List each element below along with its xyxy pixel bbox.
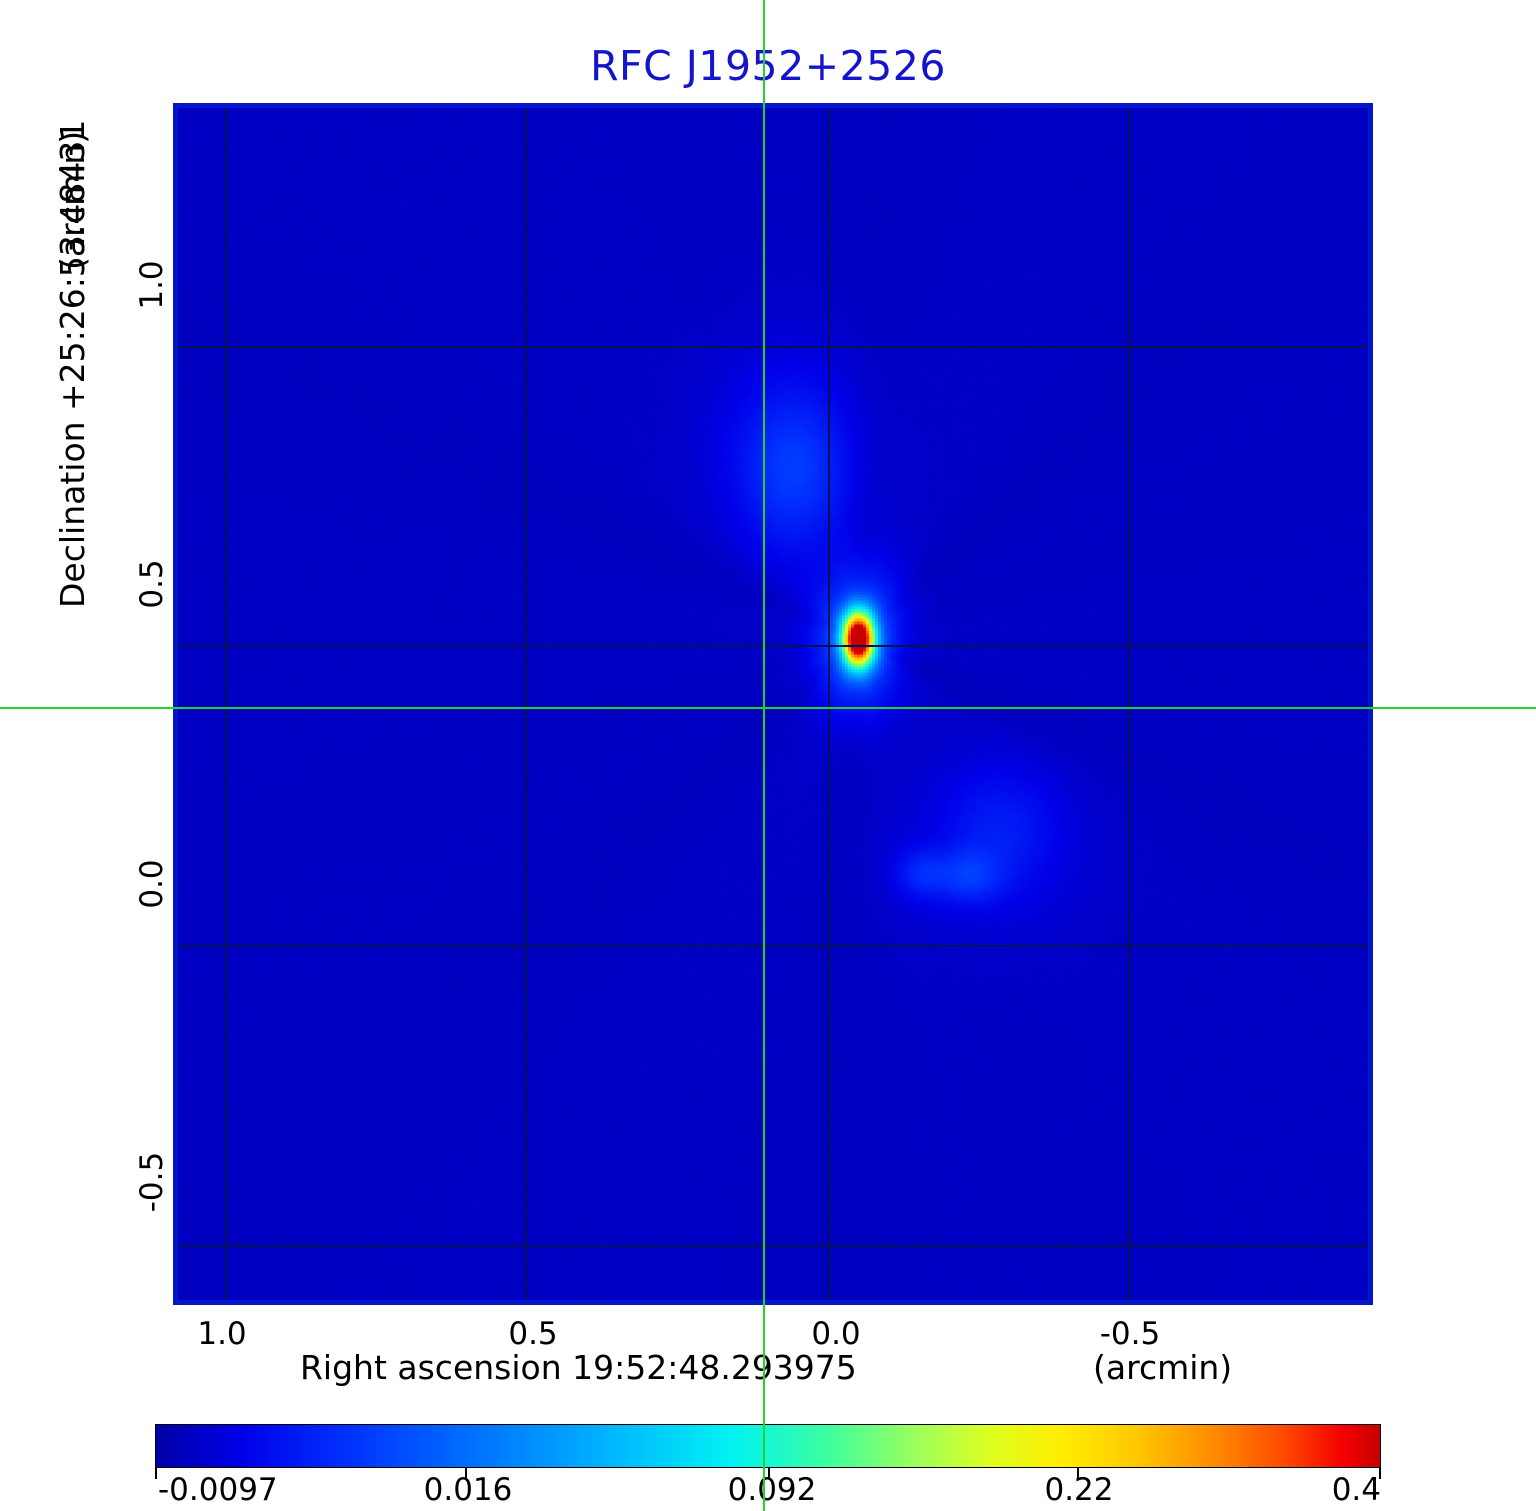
sky-image-panel[interactable] bbox=[170, 100, 1376, 1308]
colorbar-gradient bbox=[155, 1424, 1381, 1468]
x-tick-label-1: 1.0 bbox=[197, 1316, 246, 1352]
radio-intensity-heatmap bbox=[173, 103, 1373, 1305]
x-tick-label-2: 0.5 bbox=[508, 1316, 557, 1352]
y-tick-label-3: 0.0 bbox=[134, 859, 170, 908]
x-axis-units: (arcmin) bbox=[1093, 1348, 1232, 1387]
colorbar[interactable] bbox=[155, 1424, 1381, 1468]
page-title: RFC J1952+2526 bbox=[0, 42, 1536, 90]
x-axis-label: Right ascension 19:52:48.293975 bbox=[300, 1348, 857, 1387]
colorbar-tick-label-3: 0.092 bbox=[728, 1472, 817, 1508]
colorbar-tick-label-4: 0.22 bbox=[1044, 1472, 1113, 1508]
colorbar-tick-label-2: 0.016 bbox=[424, 1472, 513, 1508]
y-tick-label-4: -0.5 bbox=[134, 1152, 170, 1213]
colorbar-tick-mark-1 bbox=[155, 1468, 157, 1479]
x-tick-label-3: 0.0 bbox=[811, 1316, 860, 1352]
sky-image-inner bbox=[173, 103, 1373, 1305]
colorbar-tick-label-5: 0.4 bbox=[1332, 1472, 1381, 1508]
x-tick-label-4: -0.5 bbox=[1100, 1316, 1161, 1352]
y-axis-units: (arcmin) bbox=[53, 131, 92, 270]
colorbar-tick-label-1: -0.0097 bbox=[158, 1472, 278, 1508]
y-tick-label-2: 0.5 bbox=[134, 559, 170, 608]
y-tick-label-1: 1.0 bbox=[134, 260, 170, 309]
